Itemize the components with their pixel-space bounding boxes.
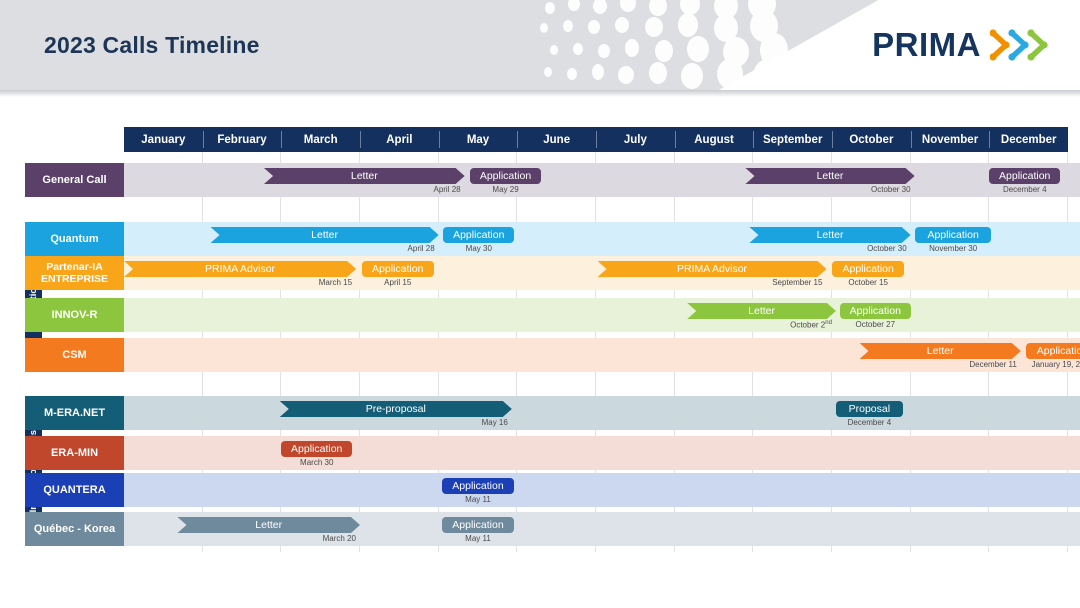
month-header-october: October xyxy=(832,127,911,152)
row-label-line: Quantum xyxy=(50,233,98,246)
timeline-row-partenar-ia-entreprise: Partenar-IAENTREPRISEPRIMA AdvisorMarch … xyxy=(25,256,1068,290)
bar-csm-application[interactable]: Application xyxy=(1026,343,1080,359)
row-label-quebec-korea[interactable]: Québec - Korea xyxy=(25,512,124,546)
bar-date-label: October 15 xyxy=(832,278,904,287)
month-header-june: June xyxy=(517,127,596,152)
month-header-august: August xyxy=(675,127,754,152)
row-label-line: ENTREPRISE xyxy=(41,273,108,285)
bar-quebec-korea-letter[interactable]: Letter xyxy=(177,517,360,533)
bar-date-label: May 29 xyxy=(470,185,541,194)
row-label-m-era-net[interactable]: M-ERA.NET xyxy=(25,396,124,430)
month-header-december: December xyxy=(989,127,1068,152)
bar-date-label: May 11 xyxy=(442,534,514,543)
row-label-general-call[interactable]: General Call xyxy=(25,163,124,197)
timeline-row-m-era-net: M-ERA.NETPre-proposalMay 16ProposalDecem… xyxy=(25,396,1068,430)
row-label-era-min[interactable]: ERA-MIN xyxy=(25,436,124,470)
timeline-row-quebec-korea: Québec - KoreaLetterMarch 20ApplicationM… xyxy=(25,512,1068,546)
timeline-row-csm: CSMLetterDecember 11ApplicationJanuary 1… xyxy=(25,338,1068,372)
bar-date-label: September 15 xyxy=(598,278,827,287)
month-header-july: July xyxy=(596,127,675,152)
month-header-november: November xyxy=(911,127,990,152)
row-band xyxy=(124,436,1080,470)
bar-date-label: March 30 xyxy=(281,458,352,467)
bar-date-label: May 11 xyxy=(442,495,514,504)
bar-date-label: October 30 xyxy=(749,244,910,253)
bar-quantum-application[interactable]: Application xyxy=(443,227,514,243)
month-header-september: September xyxy=(753,127,832,152)
bar-quebec-korea-application[interactable]: Application xyxy=(442,517,514,533)
bar-date-label: April 28 xyxy=(211,244,439,253)
bar-era-min-application[interactable]: Application xyxy=(281,441,352,457)
bar-quantera-application[interactable]: Application xyxy=(442,478,514,494)
bar-date-label: October 2nd xyxy=(687,320,836,330)
month-header-row: JanuaryFebruaryMarchAprilMayJuneJulyAugu… xyxy=(124,127,1068,152)
row-label-line: M-ERA.NET xyxy=(44,407,105,420)
month-header-may: May xyxy=(439,127,518,152)
row-label-line: QUANTERA xyxy=(43,484,105,497)
row-label-innov-r[interactable]: INNOV-R xyxy=(25,298,124,332)
bar-innov-r-application[interactable]: Application xyxy=(840,303,911,319)
bar-partenar-ia-entreprise-prima-advisor[interactable]: PRIMA Advisor xyxy=(598,261,827,277)
bar-date-label: October 30 xyxy=(745,185,914,194)
bar-date-label: April 28 xyxy=(264,185,465,194)
month-header-march: March xyxy=(281,127,360,152)
bar-partenar-ia-entreprise-application[interactable]: Application xyxy=(832,261,904,277)
bar-quantum-letter[interactable]: Letter xyxy=(749,227,910,243)
row-band xyxy=(124,298,1080,332)
timeline-row-innov-r: INNOV-RLetterOctober 2ndApplicationOctob… xyxy=(25,298,1068,332)
row-label-csm[interactable]: CSM xyxy=(25,338,124,372)
bar-date-label: March 15 xyxy=(124,278,356,287)
row-band xyxy=(124,396,1080,430)
bar-general-call-letter[interactable]: Letter xyxy=(264,168,465,184)
row-label-partenar-ia-entreprise[interactable]: Partenar-IAENTREPRISE xyxy=(25,256,124,290)
bar-partenar-ia-entreprise-application[interactable]: Application xyxy=(362,261,434,277)
month-header-april: April xyxy=(360,127,439,152)
row-label-line: CSM xyxy=(62,349,86,362)
bar-date-label: March 20 xyxy=(177,534,360,543)
calls-timeline: JanuaryFebruaryMarchAprilMayJuneJulyAugu… xyxy=(0,0,1080,608)
bar-date-label: April 15 xyxy=(362,278,434,287)
bar-m-era-net-proposal[interactable]: Proposal xyxy=(836,401,903,417)
bar-m-era-net-pre-proposal[interactable]: Pre-proposal xyxy=(280,401,512,417)
bar-general-call-letter[interactable]: Letter xyxy=(745,168,914,184)
bar-date-label: October 27 xyxy=(840,320,911,329)
bar-partenar-ia-entreprise-prima-advisor[interactable]: PRIMA Advisor xyxy=(124,261,356,277)
bar-date-label: December 4 xyxy=(836,418,903,427)
bar-quantum-letter[interactable]: Letter xyxy=(211,227,439,243)
timeline-page: 2023 Calls Timeline PRIMA JanuaryFebruar… xyxy=(0,0,1080,608)
row-band xyxy=(124,473,1080,507)
month-header-january: January xyxy=(124,127,203,152)
row-label-quantum[interactable]: Quantum xyxy=(25,222,124,256)
bar-csm-letter[interactable]: Letter xyxy=(860,343,1021,359)
row-label-line: INNOV-R xyxy=(52,309,98,322)
row-label-line: Partenar-IA xyxy=(46,261,103,273)
bar-date-label: January 19, 2024 xyxy=(1026,360,1080,369)
bar-date-label: May 30 xyxy=(443,244,514,253)
row-label-quantera[interactable]: QUANTERA xyxy=(25,473,124,507)
timeline-row-era-min: ERA-MINApplicationMarch 30 xyxy=(25,436,1068,470)
bar-innov-r-letter[interactable]: Letter xyxy=(687,303,836,319)
timeline-row-quantum: QuantumLetterApril 28ApplicationMay 30Le… xyxy=(25,222,1068,256)
bar-date-label: December 11 xyxy=(860,360,1021,369)
month-header-february: February xyxy=(203,127,282,152)
bar-general-call-application[interactable]: Application xyxy=(989,168,1060,184)
row-label-line: ERA-MIN xyxy=(51,447,98,460)
bar-date-label: May 16 xyxy=(280,418,512,427)
row-label-line: General Call xyxy=(42,174,106,187)
bar-general-call-application[interactable]: Application xyxy=(470,168,541,184)
bar-quantum-application[interactable]: Application xyxy=(915,227,991,243)
timeline-row-general-call: General CallLetterApril 28ApplicationMay… xyxy=(25,163,1068,197)
bar-date-label: December 4 xyxy=(989,185,1060,194)
row-label-line: Québec - Korea xyxy=(34,523,115,536)
bar-date-label: November 30 xyxy=(915,244,991,253)
timeline-row-quantera: QUANTERAApplicationMay 11 xyxy=(25,473,1068,507)
